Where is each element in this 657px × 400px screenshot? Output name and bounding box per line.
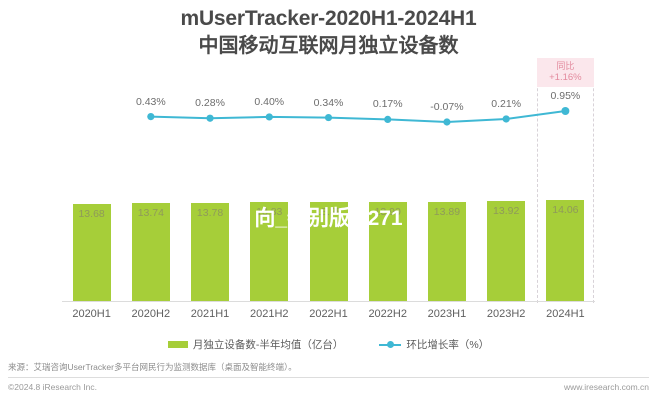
growth-rate-marker: [384, 116, 391, 123]
x-axis-label-2024h1: 2024H1: [536, 308, 595, 320]
growth-rate-marker: [325, 114, 332, 121]
growth-rate-marker: [266, 113, 273, 120]
x-axis-label-2021h1: 2021H1: [180, 308, 239, 320]
chart-title-primary: mUserTracker-2020H1-2024H1: [0, 6, 657, 32]
website-url: www.iresearch.com.cn: [564, 382, 649, 392]
chart-legend: 月独立设备数-半年均值（亿台） 环比增长率（%）: [0, 337, 657, 352]
bar-swatch-icon: [168, 341, 188, 348]
bar-value-2022h1: 13.88: [299, 206, 358, 218]
bar-value-2024h1: 14.06: [536, 204, 595, 216]
x-axis-label-2023h1: 2023H1: [417, 308, 476, 320]
x-axis-label-2023h2: 2023H2: [477, 308, 536, 320]
growth-rate-marker: [561, 107, 569, 115]
bar-value-2023h1: 13.89: [417, 206, 476, 218]
x-axis-label-2022h1: 2022H1: [299, 308, 358, 320]
legend-label-bar: 月独立设备数-半年均值（亿台）: [193, 337, 344, 352]
bar-value-2022h2: 13.90: [358, 206, 417, 218]
x-axis-label-2022h2: 2022H2: [358, 308, 417, 320]
x-axis-labels: 2020H12020H22021H12021H22022H12022H22023…: [0, 308, 657, 326]
chart-title-block: mUserTracker-2020H1-2024H1 中国移动互联网月独立设备数: [0, 6, 657, 59]
source-note: 来源：艾瑞咨询UserTracker多平台网民行为监测数据库（桌面及智能终端）。: [0, 360, 657, 374]
bar-value-2021h2: 13.83: [240, 206, 299, 218]
chart-title-secondary: 中国移动互联网月独立设备数: [0, 33, 657, 59]
chart-image: mUserTracker-2020H1-2024H1 中国移动互联网月独立设备数…: [0, 0, 657, 400]
x-axis-line: [62, 301, 595, 302]
legend-label-line: 环比增长率（%）: [406, 337, 489, 352]
plot-area: 同比 +1.16% 0.43%0.28%0.40%0.34%0.17%-0.07…: [0, 58, 657, 303]
growth-rate-marker: [503, 115, 510, 122]
x-axis-label-2020h1: 2020H1: [62, 308, 121, 320]
footer-bottom-row: ©2024.8 iResearch Inc. www.iresearch.com…: [0, 378, 657, 392]
legend-item-line: 环比增长率（%）: [379, 337, 489, 352]
bar-value-2021h1: 13.78: [180, 207, 239, 219]
x-axis-label-2020h2: 2020H2: [121, 308, 180, 320]
growth-rate-marker: [443, 118, 450, 125]
bar-value-2020h2: 13.74: [121, 207, 180, 219]
growth-rate-marker: [206, 115, 213, 122]
copyright-text: ©2024.8 iResearch Inc.: [8, 382, 97, 392]
bar-value-2020h1: 13.68: [62, 208, 121, 220]
growth-rate-marker: [147, 113, 154, 120]
chart-footer: 来源：艾瑞咨询UserTracker多平台网民行为监测数据库（桌面及智能终端）。…: [0, 360, 657, 392]
line-swatch-icon: [379, 341, 401, 349]
x-axis-label-2021h2: 2021H2: [240, 308, 299, 320]
legend-item-bar: 月独立设备数-半年均值（亿台）: [168, 337, 344, 352]
bar-value-2023h2: 13.92: [477, 205, 536, 217]
